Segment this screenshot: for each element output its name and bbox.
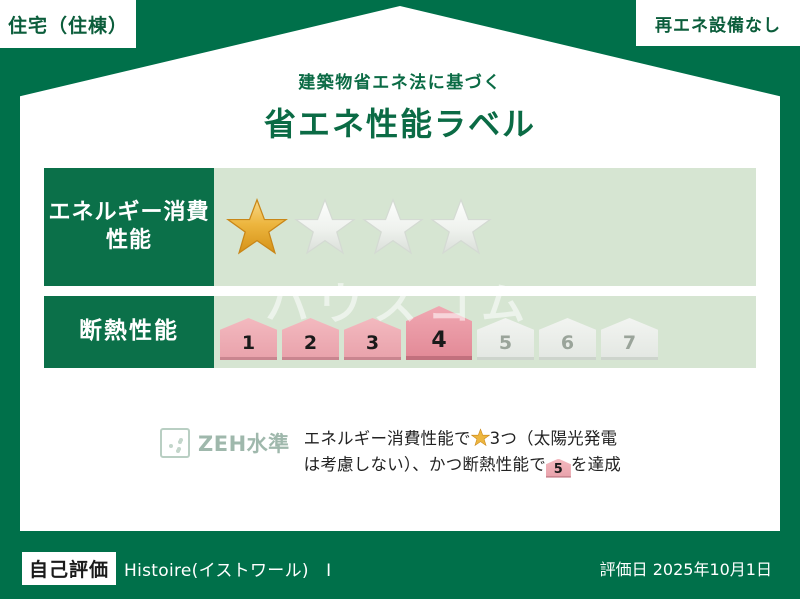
- star-icon-filled: [226, 196, 288, 258]
- grade-badge: 1: [220, 318, 277, 360]
- energy-performance-value-cell: [214, 168, 756, 286]
- zeh-badge: ZEH水準: [160, 424, 290, 458]
- energy-performance-label-cell: エネルギー消費性能: [44, 168, 214, 286]
- zeh-mark-icon: [160, 428, 190, 458]
- label-subtitle: 建築物省エネ法に基づく: [20, 68, 780, 93]
- self-evaluation-badge: 自己評価: [22, 552, 116, 585]
- zeh-label: ZEH水準: [198, 428, 290, 458]
- insulation-performance-label-cell: 断熱性能: [44, 296, 214, 368]
- zeh-description: エネルギー消費性能で3つ（太陽光発電は考慮しない）、かつ断熱性能で5を達成: [304, 424, 621, 478]
- page-title: 省エネ性能ラベル: [20, 99, 780, 145]
- zeh-standard-note: ZEH水準 エネルギー消費性能で3つ（太陽光発電は考慮しない）、かつ断熱性能で5…: [160, 424, 760, 478]
- footer-left-group: 自己評価 Histoire(イストワール) Ⅰ: [22, 552, 331, 585]
- energy-performance-row: エネルギー消費性能: [44, 168, 756, 286]
- renewable-equipment-label: 再エネ設備なし: [655, 11, 781, 36]
- insulation-performance-value-cell: 1 2 3 4 5 6 7: [214, 296, 756, 368]
- zeh-desc-part4: を達成: [571, 455, 621, 474]
- footer-bar: 自己評価 Histoire(イストワール) Ⅰ 評価日 2025年10月1日: [0, 537, 800, 599]
- insulation-performance-row: 断熱性能 1 2 3 4 5 6 7: [44, 296, 756, 368]
- evaluation-date: 評価日 2025年10月1日: [600, 556, 772, 580]
- star-icon-empty: [430, 196, 492, 258]
- star-icon-empty: [294, 196, 356, 258]
- inline-grade-badge: 5: [546, 459, 571, 478]
- dwelling-type-label: 住宅（住棟）: [8, 11, 128, 38]
- grade-badge: 2: [282, 318, 339, 360]
- label-content: 建築物省エネ法に基づく 省エネ性能ラベル エネルギー消費性能: [20, 6, 780, 531]
- zeh-desc-part2: 3つ（太陽光発電: [490, 429, 618, 448]
- grade-badge: 3: [344, 318, 401, 360]
- dwelling-type-tab: 住宅（住棟）: [0, 0, 136, 48]
- inline-star-icon: [471, 428, 490, 447]
- grade-badge: 5: [477, 318, 534, 360]
- energy-performance-label: 住宅（住棟） 再エネ設備なし 建築物省エネ法に基づく 省エネ性能ラベル エネルギ…: [0, 0, 800, 599]
- renewable-equipment-tab: 再エネ設備なし: [636, 0, 800, 46]
- insulation-grade-scale: 1 2 3 4 5 6 7: [220, 296, 658, 368]
- title-block: 建築物省エネ法に基づく 省エネ性能ラベル: [20, 68, 780, 145]
- zeh-desc-part3: は考慮しない）、かつ断熱性能で: [304, 455, 546, 474]
- star-rating: [226, 196, 492, 258]
- star-icon-empty: [362, 196, 424, 258]
- grade-badge: 6: [539, 318, 596, 360]
- energy-performance-label-text: エネルギー消費性能: [44, 199, 214, 255]
- zeh-desc-part1: エネルギー消費性能で: [304, 429, 471, 448]
- grade-badge: 7: [601, 318, 658, 360]
- insulation-performance-label-text: 断熱性能: [79, 317, 179, 346]
- grade-badge-current: 4: [406, 306, 472, 360]
- building-name: Histoire(イストワール) Ⅰ: [124, 556, 331, 581]
